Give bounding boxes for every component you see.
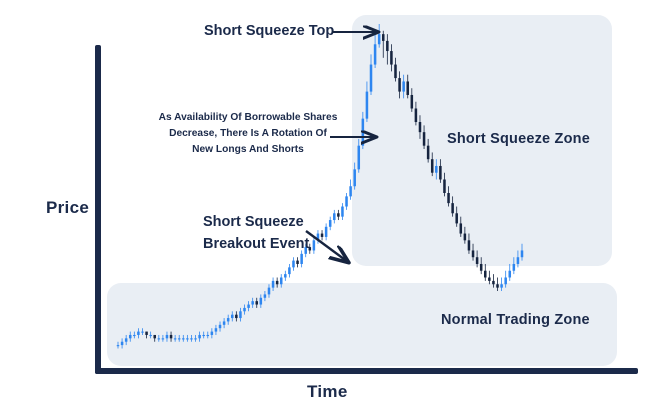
candle-body: [345, 196, 348, 206]
normal-trading-zone-label: Normal Trading Zone: [441, 312, 590, 328]
annotation-short-squeeze-top: Short Squeeze Top: [204, 23, 334, 39]
candle-body: [292, 261, 295, 268]
x-axis-line: [95, 368, 638, 374]
annotation-rotation-note: As Availability Of Borrowable Shares Dec…: [158, 110, 338, 158]
candle-body: [341, 207, 344, 217]
candle-body: [296, 261, 299, 264]
candle-body: [484, 271, 487, 278]
candle-body: [488, 278, 491, 281]
candle-body: [300, 254, 303, 264]
candle-body: [288, 267, 291, 274]
annotation-breakout-event: Short Squeeze Breakout Event: [203, 211, 323, 255]
y-axis-title: Price: [46, 198, 89, 218]
x-axis-title: Time: [307, 382, 348, 402]
short-squeeze-zone-label: Short Squeeze Zone: [447, 131, 590, 147]
candle-body: [329, 220, 332, 227]
candle-body: [284, 274, 287, 277]
chart-canvas: Price Time Short Squeeze Zone Normal Tra…: [0, 0, 660, 420]
candle-body: [337, 213, 340, 216]
y-axis-line: [95, 45, 101, 374]
candle-body: [325, 227, 328, 237]
candle-body: [508, 271, 511, 278]
candle-body: [333, 213, 336, 220]
